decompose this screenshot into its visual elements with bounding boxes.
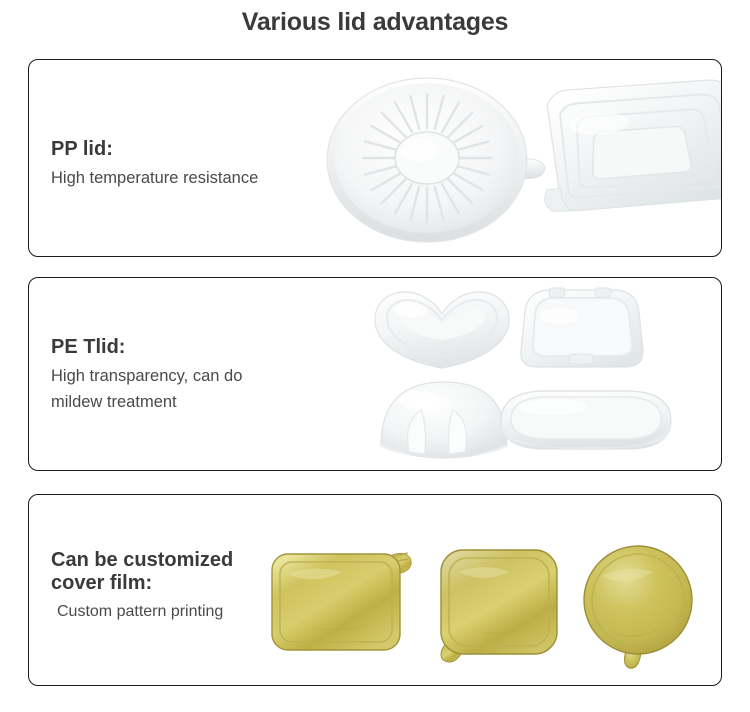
card-pet-heading: PE Tlid: — [51, 336, 242, 359]
page-title: Various lid advantages — [0, 8, 750, 37]
card-foil-subtitle: Custom pattern printing — [51, 600, 233, 625]
card-cover-film: Can be customized cover film: Custom pat… — [28, 494, 722, 686]
gold-foil-round-lid-image — [569, 540, 709, 670]
card-pet-lid: PE Tlid: High transparency, can do milde… — [28, 277, 722, 471]
card-pp-lid: PP lid: High temperature resistance — [28, 59, 722, 257]
gold-foil-rectangular-lid-image — [264, 540, 429, 665]
square-pet-lid-image — [507, 278, 657, 373]
card-foil-heading: Can be customized cover film: — [51, 549, 233, 595]
rectangular-pp-lid-image — [529, 63, 722, 248]
gold-foil-square-lid-image — [429, 540, 579, 670]
card-pet-text-block: PE Tlid: High transparency, can do milde… — [51, 336, 242, 415]
oval-pet-lid-image — [491, 381, 681, 461]
card-pp-text-block: PP lid: High temperature resistance — [51, 138, 258, 192]
card-pp-subtitle: High temperature resistance — [51, 166, 258, 192]
heart-shaped-pet-lid-image — [367, 284, 517, 374]
round-pp-lid-image — [323, 68, 563, 248]
card-pp-heading: PP lid: — [51, 138, 258, 161]
card-pet-subtitle: High transparency, can do mildew treatme… — [51, 364, 242, 415]
card-foil-text-block: Can be customized cover film: Custom pat… — [51, 549, 233, 625]
